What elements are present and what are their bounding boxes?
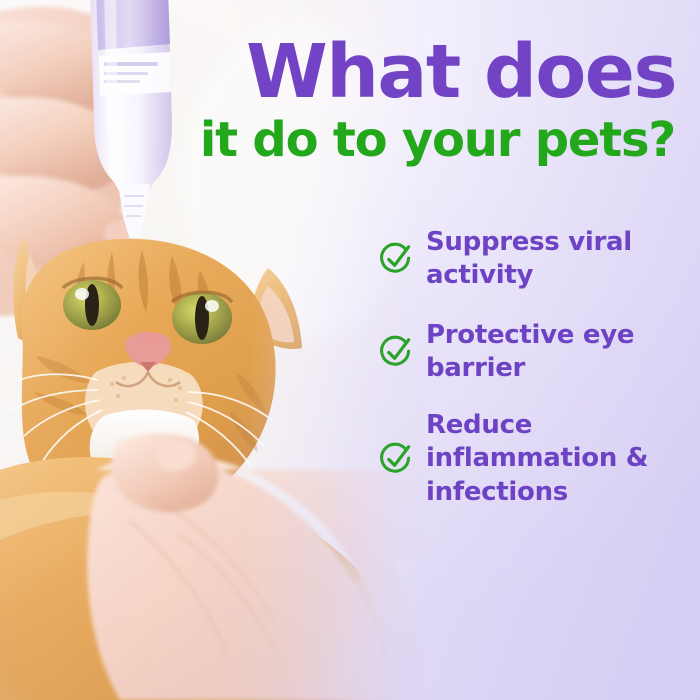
benefits-list: Suppress viral activity Protective eye b… (378, 226, 678, 529)
check-circle-icon (378, 241, 414, 277)
list-item-label: Protective eye barrier (426, 319, 678, 386)
list-item-label: Reduce inflammation & infections (426, 409, 678, 509)
list-item: Suppress viral activity (378, 226, 678, 293)
headline-secondary: it do to your pets? (0, 116, 700, 164)
poster-canvas: What does it do to your pets? Suppress v… (0, 0, 700, 700)
list-item: Protective eye barrier (378, 319, 678, 386)
check-circle-icon (378, 441, 414, 477)
headline-primary: What does (0, 38, 700, 106)
check-circle-icon (378, 334, 414, 370)
list-item-label: Suppress viral activity (426, 226, 678, 293)
list-item: Reduce inflammation & infections (378, 409, 678, 509)
